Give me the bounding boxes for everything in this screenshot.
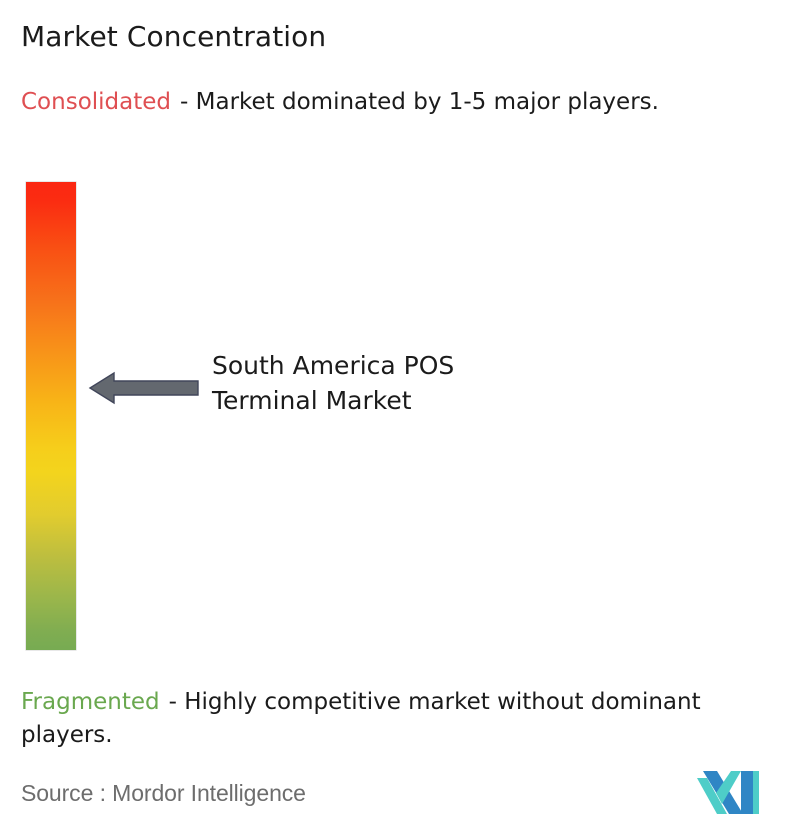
market-concentration-figure: Market Concentration Consolidated- Marke… [0,0,796,834]
callout-label: South America POS Terminal Market [212,348,454,418]
concentration-gradient-scale [26,182,76,650]
legend-consolidated: Consolidated- Market dominated by 1-5 ma… [21,86,773,119]
legend-fragmented: Fragmented- Highly competitive market wi… [21,686,787,752]
source-attribution: Source : Mordor Intelligence [21,778,306,808]
mordor-intelligence-logo-icon [697,768,759,814]
legend-consolidated-description: - Market dominated by 1-5 major players. [180,89,659,115]
legend-consolidated-keyword: Consolidated [21,89,171,115]
page-title: Market Concentration [21,20,326,54]
market-callout: South America POS Terminal Market [88,348,558,418]
left-arrow-icon [88,368,200,408]
legend-fragmented-keyword: Fragmented [21,689,160,715]
